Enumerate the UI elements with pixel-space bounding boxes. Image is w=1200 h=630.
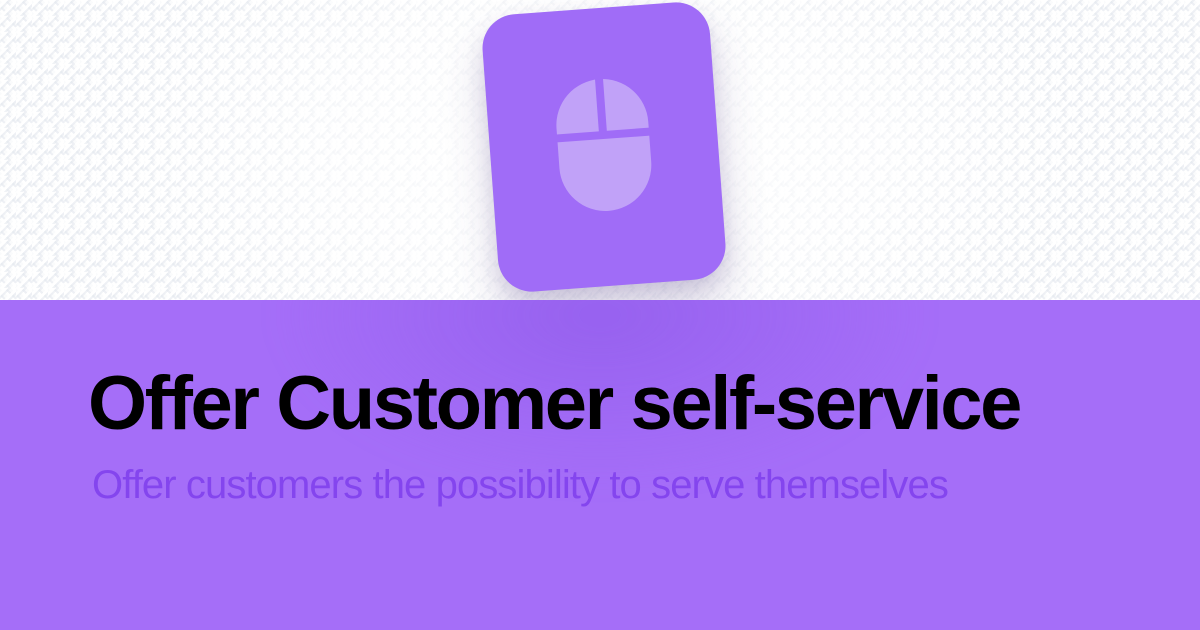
page-title: Offer Customer self-service	[88, 362, 1112, 446]
band-text-wrapper: Offer Customer self-service Offer custom…	[88, 300, 1112, 630]
icon-card	[480, 0, 728, 294]
page-subtitle: Offer customers the possibility to serve…	[92, 459, 1116, 511]
og-share-card: Offer Customer self-service Offer custom…	[0, 0, 1200, 630]
computer-mouse-icon	[549, 72, 659, 219]
purple-text-band: Offer Customer self-service Offer custom…	[0, 300, 1200, 630]
